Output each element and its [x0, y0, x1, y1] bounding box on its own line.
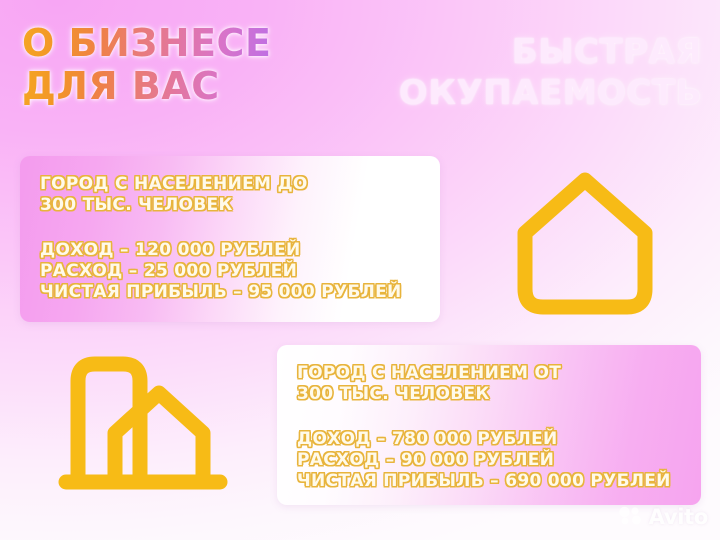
avito-watermark: Avito — [618, 504, 708, 530]
card2-expense-line: РАСХОД – 90 000 РУБЛЕЙ — [297, 450, 681, 471]
two-buildings-outline-icon — [58, 348, 230, 503]
house-outline-icon — [508, 164, 662, 324]
card2-income-line: ДОХОД – 780 000 РУБЛЕЙ — [297, 429, 681, 450]
promo-poster: О БИЗНЕСЕ ДЛЯ ВАС БЫСТРАЯ ОКУПАЕМОСТЬ ГО… — [0, 0, 720, 540]
subheadline-line-1: БЫСТРАЯ — [352, 32, 702, 73]
card-figures-large-city: ДОХОД – 780 000 РУБЛЕЙ РАСХОД – 90 000 Р… — [297, 429, 681, 492]
card2-net-profit-line: ЧИСТАЯ ПРИБЫЛЬ – 690 000 РУБЛЕЙ — [297, 471, 681, 492]
page-title: О БИЗНЕСЕ ДЛЯ ВАС — [22, 22, 322, 108]
subtitle: БЫСТРАЯ ОКУПАЕМОСТЬ — [352, 32, 702, 114]
card1-income-line: ДОХОД – 120 000 РУБЛЕЙ — [40, 240, 420, 261]
subheadline-line-2: ОКУПАЕМОСТЬ — [352, 73, 702, 114]
avito-watermark-label: Avito — [649, 505, 708, 529]
headline-line-1: О БИЗНЕСЕ — [22, 22, 322, 65]
headline-line-2: ДЛЯ ВАС — [22, 65, 322, 108]
card-title-small-city: ГОРОД С НАСЕЛЕНИЕМ ДО 300 ТЫС. ЧЕЛОВЕК — [40, 174, 420, 216]
card1-net-profit-line: ЧИСТАЯ ПРИБЫЛЬ – 95 000 РУБЛЕЙ — [40, 282, 420, 303]
info-card-small-city: ГОРОД С НАСЕЛЕНИЕМ ДО 300 ТЫС. ЧЕЛОВЕК Д… — [20, 156, 440, 322]
card1-title-line-1: ГОРОД С НАСЕЛЕНИЕМ ДО — [40, 174, 420, 195]
card1-title-line-2: 300 ТЫС. ЧЕЛОВЕК — [40, 195, 420, 216]
card1-expense-line: РАСХОД – 25 000 РУБЛЕЙ — [40, 261, 420, 282]
card2-title-line-2: 300 ТЫС. ЧЕЛОВЕК — [297, 384, 681, 405]
card-title-large-city: ГОРОД С НАСЕЛЕНИЕМ ОТ 300 ТЫС. ЧЕЛОВЕК — [297, 363, 681, 405]
card2-title-line-1: ГОРОД С НАСЕЛЕНИЕМ ОТ — [297, 363, 681, 384]
avito-logo-icon — [618, 504, 644, 530]
card-figures-small-city: ДОХОД – 120 000 РУБЛЕЙ РАСХОД – 25 000 Р… — [40, 240, 420, 303]
info-card-large-city: ГОРОД С НАСЕЛЕНИЕМ ОТ 300 ТЫС. ЧЕЛОВЕК Д… — [277, 345, 701, 505]
